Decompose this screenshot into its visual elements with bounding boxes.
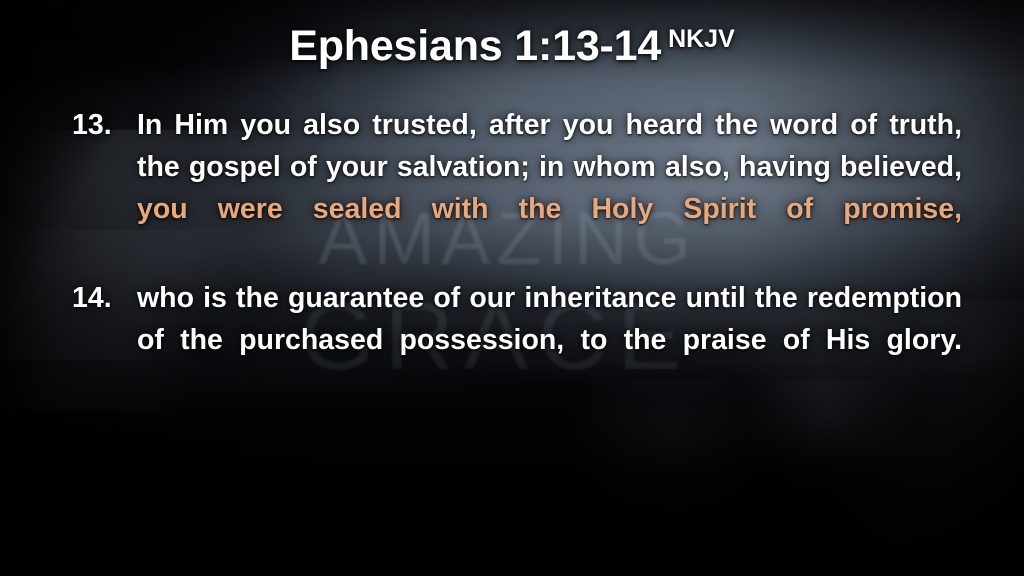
slide-title: Ephesians 1:13-14NKJV	[0, 22, 1024, 71]
verse-13-text-plain: In Him you also trusted, after you heard…	[137, 109, 962, 183]
verse-14-text-plain: who is the guarantee of our inheritance …	[137, 282, 962, 356]
verse-13-text-highlighted: you were sealed with the Holy Spirit of …	[137, 193, 962, 225]
bible-version-label: NKJV	[668, 25, 735, 53]
slide-content: Ephesians 1:13-14NKJV 13.In Him you also…	[0, 0, 1024, 576]
verse-13: 13.In Him you also trusted, after you he…	[72, 104, 962, 272]
presentation-slide: AMAZING GRACE Ephesians 1:13-14NKJV 13.I…	[0, 0, 1024, 576]
verse-13-number: 13.	[72, 104, 137, 146]
verse-14: 14.who is the guarantee of our inheritan…	[72, 277, 962, 403]
verse-13-body: 13.In Him you also trusted, after you he…	[72, 104, 962, 272]
scripture-reference: Ephesians 1:13-14	[289, 22, 661, 70]
verse-14-body: 14.who is the guarantee of our inheritan…	[72, 277, 962, 403]
verse-14-number: 14.	[72, 277, 137, 319]
